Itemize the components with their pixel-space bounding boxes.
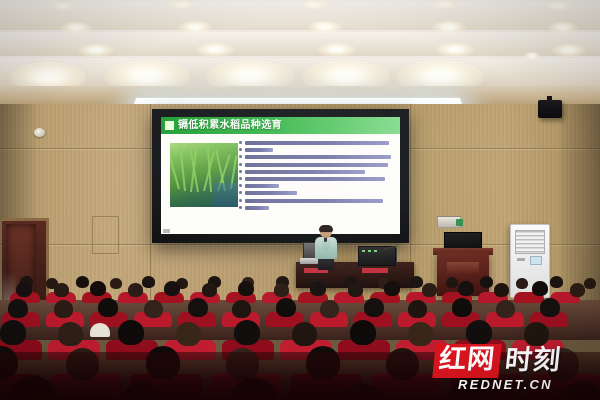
- watermark-white-text: 时刻: [503, 346, 562, 376]
- microphone-stand: [396, 248, 397, 263]
- presenter-legs: [318, 258, 334, 270]
- air-conditioner-display: [530, 256, 542, 265]
- presenter-hair: [319, 225, 333, 232]
- slide-photo-rice-paddy: [170, 143, 238, 207]
- wall-panel-outline: [92, 216, 119, 254]
- photograph: 镉低积累水稻品种选育: [0, 0, 600, 400]
- watermark-logo-row: 红网 时刻: [434, 344, 561, 378]
- projection-screen[interactable]: 镉低积累水稻品种选育: [161, 117, 400, 234]
- presenter: [313, 226, 339, 270]
- air-conditioner-grille-icon: [515, 230, 545, 254]
- ceiling-downlights: [0, 0, 600, 96]
- screen-brand-mark: [163, 229, 170, 233]
- air-conditioner-badge: [517, 258, 525, 261]
- wall-speaker-icon: [538, 100, 562, 118]
- watermark-red-text: 红网: [432, 344, 502, 378]
- slide-title: 镉低积累水稻品种选育: [178, 119, 368, 133]
- wall-sensor-icon: [34, 128, 45, 137]
- wall-control-led-icon: [456, 219, 463, 226]
- watermark: 红网 时刻 REDNET.CN: [434, 344, 594, 392]
- av-mixer[interactable]: [358, 246, 396, 266]
- slide-title-bullet-icon: [165, 121, 174, 130]
- slide-bullet-list: [245, 141, 393, 211]
- watermark-subtitle: REDNET.CN: [458, 377, 553, 392]
